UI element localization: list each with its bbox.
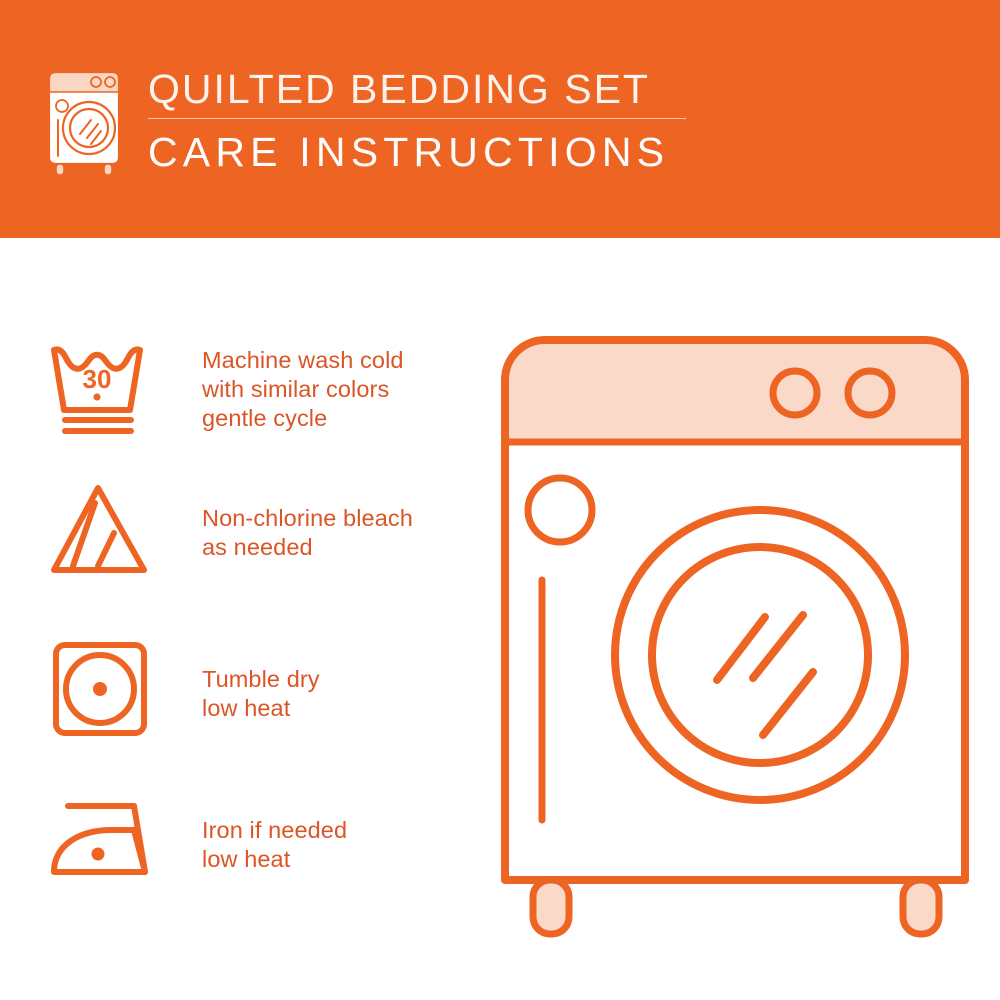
care-instructions-list: 30 Machine wash cold with similar colors… xyxy=(0,238,500,1000)
care-line: Machine wash cold xyxy=(202,346,404,375)
care-line: low heat xyxy=(202,845,347,874)
door-inner-ring xyxy=(652,547,868,763)
indicator-light xyxy=(528,478,592,542)
care-line: as needed xyxy=(202,533,413,562)
care-line: low heat xyxy=(202,694,320,723)
leg-right xyxy=(903,880,939,934)
care-line: Non-chlorine bleach xyxy=(202,504,413,533)
page-title: QUILTED BEDDING SET xyxy=(148,66,848,112)
washing-machine-illustration xyxy=(495,330,975,940)
page-subtitle: CARE INSTRUCTIONS xyxy=(148,128,848,176)
care-line: with similar colors xyxy=(202,375,404,404)
machine-wash-symbol: 30 xyxy=(46,338,176,448)
care-line: gentle cycle xyxy=(202,404,404,433)
care-text-iron: Iron if needed low heat xyxy=(202,816,347,874)
title-divider xyxy=(148,118,686,119)
iron-symbol xyxy=(46,788,176,898)
care-text-bleach: Non-chlorine bleach as needed xyxy=(202,504,413,562)
header-banner: QUILTED BEDDING SET CARE INSTRUCTIONS xyxy=(0,0,1000,238)
non-chlorine-bleach-symbol xyxy=(46,478,176,588)
knob-left xyxy=(773,371,817,415)
care-line: Tumble dry xyxy=(202,665,320,694)
care-line: Iron if needed xyxy=(202,816,347,845)
washing-machine-icon xyxy=(44,68,136,176)
leg-left xyxy=(533,880,569,934)
header-text-block: QUILTED BEDDING SET CARE INSTRUCTIONS xyxy=(148,66,848,176)
knob-right xyxy=(848,371,892,415)
care-text-tumble-dry: Tumble dry low heat xyxy=(202,665,320,723)
wash-temperature-label: 30 xyxy=(83,364,112,394)
care-text-machine-wash: Machine wash cold with similar colors ge… xyxy=(202,346,404,433)
tumble-dry-symbol xyxy=(46,633,176,743)
care-instructions-page: QUILTED BEDDING SET CARE INSTRUCTIONS 30 xyxy=(0,0,1000,1000)
